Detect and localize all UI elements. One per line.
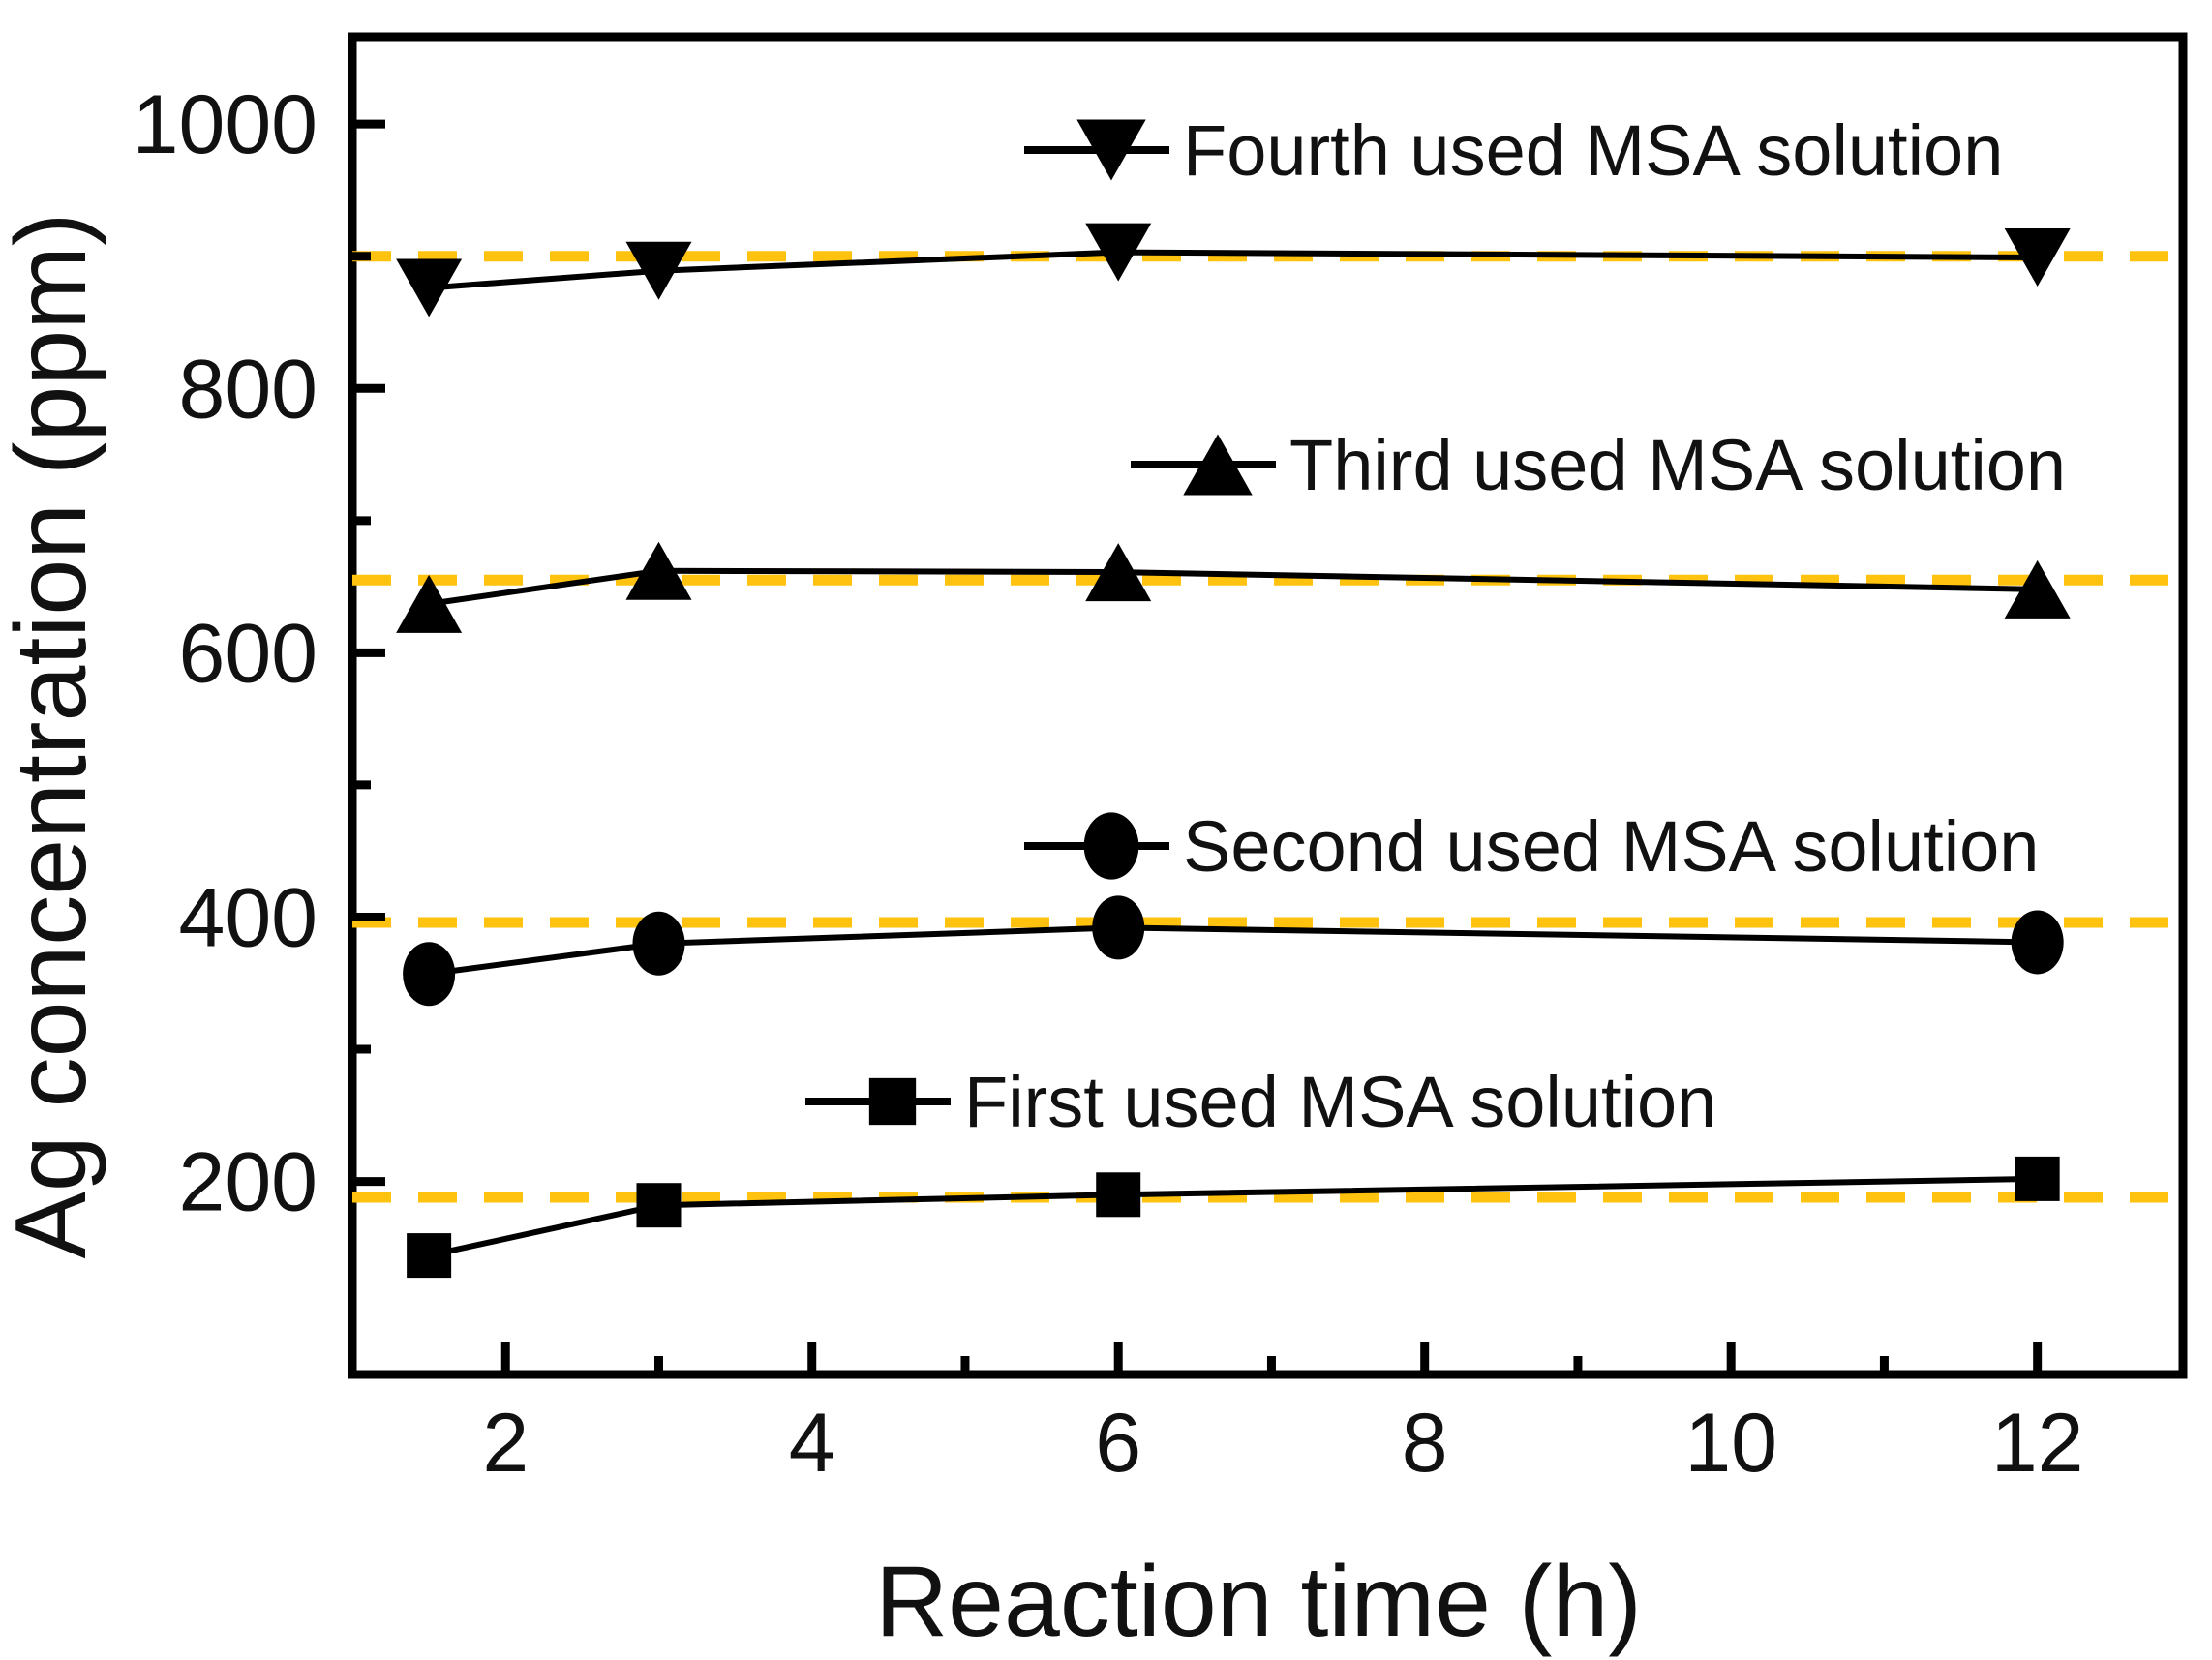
x-tick-label: 8 [1402,1397,1448,1490]
chart-figure: 2004006008001000 24681012 Reaction time … [0,0,2212,1660]
data-marker-square [869,1078,916,1125]
data-marker-square [407,1233,451,1278]
y-tick-label: 600 [179,607,318,700]
data-marker-square [1096,1172,1140,1217]
y-tick-label: 800 [179,343,318,436]
y-tick-label: 400 [179,871,318,964]
legend-label: Fourth used MSA solution [1183,110,2003,191]
legend-label: First used MSA solution [964,1062,1716,1142]
y-tick-label: 1000 [133,78,318,171]
legend-label: Third used MSA solution [1289,425,2066,505]
x-tick-label: 10 [1684,1397,1777,1490]
legend-label: Second used MSA solution [1183,806,2039,887]
data-marker-square [2015,1157,2060,1201]
data-marker-circle [403,942,455,1006]
chart-canvas: 2004006008001000 24681012 Reaction time … [0,0,2212,1660]
x-tick-label: 6 [1095,1397,1141,1490]
data-marker-circle [2012,910,2064,974]
data-marker-circle [1084,812,1139,879]
x-axis-title: Reaction time (h) [875,1546,1642,1658]
data-marker-circle [1092,895,1144,959]
x-tick-label: 2 [482,1397,529,1490]
x-tick-label: 4 [789,1397,835,1490]
x-tick-label: 12 [1991,1397,2084,1490]
y-tick-label: 200 [179,1136,318,1229]
data-marker-circle [632,912,684,976]
y-axis-title: Ag concentration (ppm) [0,213,107,1259]
data-marker-square [636,1183,681,1227]
